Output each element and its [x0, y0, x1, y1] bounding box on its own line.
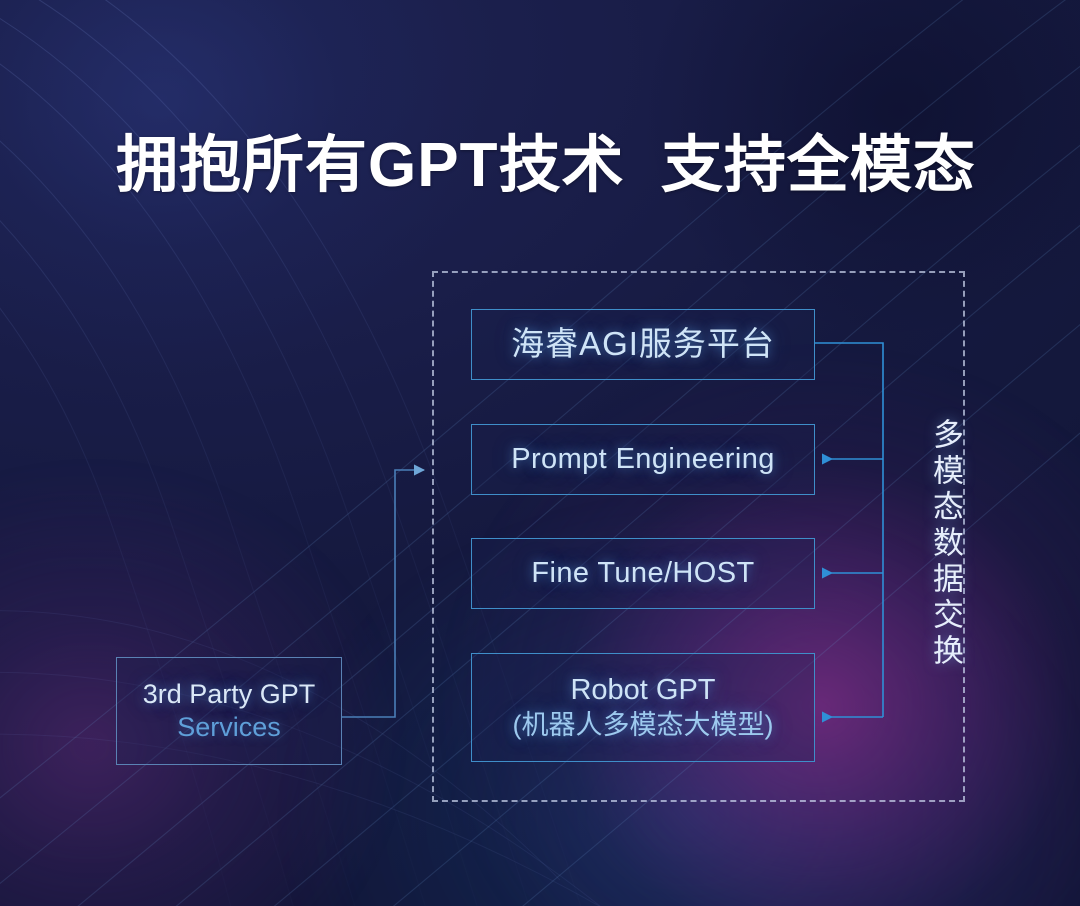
node-agi-platform[interactable]: 海睿AGI服务平台 [471, 309, 815, 380]
page-title: 拥抱所有GPT技术 支持全模态 [116, 114, 976, 204]
node-robot-gpt-label-primary: Robot GPT [570, 673, 715, 708]
node-fine-tune-host-label: Fine Tune/HOST [531, 556, 754, 591]
slide-canvas: 拥抱所有GPT技术 支持全模态 [0, 0, 1080, 906]
node-robot-gpt[interactable]: Robot GPT (机器人多模态大模型) [471, 653, 815, 762]
node-third-party-label-secondary: Services [177, 711, 281, 744]
node-third-party-label-primary: 3rd Party GPT [143, 678, 316, 711]
node-agi-platform-label: 海睿AGI服务平台 [511, 324, 775, 364]
multimodal-data-exchange-label: 多模态数据交换 [915, 418, 961, 670]
node-fine-tune-host[interactable]: Fine Tune/HOST [471, 538, 815, 609]
node-robot-gpt-label-secondary: (机器人多模态大模型) [513, 709, 774, 742]
node-third-party-gpt-services[interactable]: 3rd Party GPT Services [116, 657, 342, 765]
node-prompt-engineering[interactable]: Prompt Engineering [471, 424, 815, 495]
node-prompt-engineering-label: Prompt Engineering [511, 442, 775, 477]
